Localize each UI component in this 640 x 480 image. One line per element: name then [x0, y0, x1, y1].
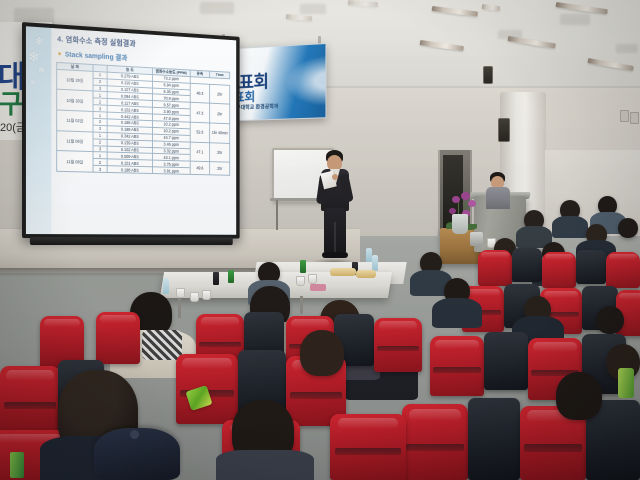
- slide-bullet-marker: [58, 52, 61, 55]
- cell-date: 10월 30일: [57, 90, 93, 112]
- cell-time: 2hr: [210, 142, 230, 162]
- auditorium-seat: [512, 248, 542, 282]
- flower-vase: [452, 214, 468, 234]
- audience-head: [596, 306, 624, 334]
- kettle: [470, 232, 483, 246]
- paper-cup: [202, 290, 211, 300]
- ceiling-light: [432, 6, 478, 17]
- snack-plate: [330, 268, 356, 276]
- screen-bottom-bar: [30, 237, 233, 245]
- auditorium-seat: [330, 414, 406, 480]
- wall-outlet: [630, 112, 639, 124]
- banner-swoosh-decor: [273, 48, 327, 115]
- cell-date: 11월 06일: [57, 131, 93, 153]
- cell-no: 3: [93, 166, 107, 173]
- snowflake-icon: ❄: [30, 78, 36, 86]
- audience-shoulders: [432, 298, 482, 328]
- pink-item: [310, 284, 326, 291]
- presenter-hand: [332, 174, 338, 180]
- slide-data-table: 날 짜 농 도 염화수소농도 (PPM) 유속 Time 10월 29일10.2…: [56, 62, 230, 176]
- cell-vel: 52.6: [190, 122, 210, 142]
- col-header-time: Time: [210, 71, 230, 78]
- beverage-can: [228, 270, 234, 283]
- ceiling-light: [508, 36, 556, 48]
- cell-ppm: 3.91 ppm: [152, 167, 189, 174]
- table-body: 10월 29일10.279 ABS73.2 ppm20.116 ABS6.94 …: [57, 69, 230, 175]
- auditorium-seat: [402, 404, 468, 480]
- podium-person: [484, 172, 512, 206]
- presenter: [312, 150, 358, 262]
- wall-outlet: [620, 110, 629, 122]
- ceiling-light: [348, 0, 378, 7]
- orchid-bloom: [468, 200, 476, 207]
- ceiling-light: [482, 4, 500, 11]
- col-header-velocity: 유속: [190, 70, 210, 78]
- slide-side-decor: ❄ ❄ ❄ ❄: [26, 26, 51, 234]
- ceiling-light: [556, 2, 608, 14]
- auditorium-seat: [430, 336, 484, 396]
- screen-surface: ❄ ❄ ❄ ❄ 4. 염화수소 측정 실험결과 Stack sampling 결…: [26, 26, 236, 235]
- cell-time: 1hr 40min: [210, 123, 230, 143]
- auditorium-seat: [478, 250, 512, 286]
- photo-scene: 대 구 · 20(금) 발표회 표회 대구대학교 환경공학과 ❄ ❄ ❄ ❄ 4…: [0, 0, 640, 480]
- scarf: [142, 330, 182, 360]
- cell-time: 2hr: [210, 103, 230, 123]
- paper-cup: [296, 276, 305, 286]
- audience-head: [300, 330, 344, 376]
- audience-shoulders: [552, 216, 588, 238]
- paper-cup: [308, 274, 317, 284]
- paper-cup: [190, 292, 199, 302]
- wall-speaker: [483, 66, 493, 84]
- podium-person-torso: [486, 187, 510, 209]
- cell-time: 2hr: [210, 162, 230, 175]
- projection-screen: ❄ ❄ ❄ ❄ 4. 염화수소 측정 실험결과 Stack sampling 결…: [22, 22, 240, 239]
- cell-vel: 48.3: [190, 83, 210, 104]
- cell-date: 11월 08일: [57, 151, 93, 172]
- beverage-can: [10, 452, 24, 478]
- audience-shoulders: [216, 450, 314, 480]
- orchid-bloom: [461, 192, 470, 200]
- auditorium-seat: [542, 252, 576, 288]
- slide-title: 4. 염화수소 측정 실험결과: [57, 33, 136, 49]
- snowflake-icon: ❄: [35, 35, 44, 48]
- auditorium-seat: [576, 250, 606, 284]
- orchid-bloom: [452, 196, 460, 203]
- left-banner-char-2: 구: [0, 84, 23, 121]
- cell-vel: 47.3: [190, 103, 210, 123]
- cell-date: 11월 02일: [57, 110, 93, 132]
- slide-bullet-text: Stack sampling 결과: [65, 50, 127, 63]
- audience-head: [556, 372, 602, 420]
- auditorium-seat: [468, 398, 520, 480]
- table-leg: [178, 296, 181, 318]
- beverage-can: [300, 260, 306, 273]
- auditorium-seat: [374, 318, 422, 372]
- ceiling-light: [420, 40, 464, 51]
- table-leg: [300, 296, 303, 314]
- presenter-leg-gap: [334, 222, 336, 254]
- ceiling-light: [286, 14, 312, 21]
- cell-time: 2hr: [210, 84, 230, 104]
- cell-vel: 47.1: [190, 142, 210, 162]
- snowflake-icon: ❄: [38, 65, 45, 76]
- cap-button: [130, 430, 139, 439]
- presentation-slide: ❄ ❄ ❄ ❄ 4. 염화수소 측정 실험결과 Stack sampling 결…: [26, 26, 236, 235]
- whiteboard-leg: [276, 200, 278, 230]
- cell-vel: 49.6: [190, 161, 210, 175]
- beverage-bottle: [618, 368, 634, 398]
- water-bottle: [372, 255, 378, 271]
- auditorium-seat: [606, 252, 640, 288]
- snowflake-icon: ❄: [28, 48, 40, 66]
- auditorium-seat: [0, 366, 60, 436]
- water-bottle: [163, 278, 169, 294]
- paper-cup: [176, 288, 185, 298]
- cell-conc: 0.198 ABS: [107, 166, 152, 174]
- snack-plate: [356, 270, 376, 278]
- auditorium-seat: [484, 332, 528, 390]
- wall-speaker: [498, 118, 510, 142]
- auditorium-seat: [96, 312, 140, 364]
- beverage-can: [213, 272, 219, 285]
- audience-head: [618, 218, 638, 238]
- ceiling-light: [588, 58, 634, 71]
- cell-date: 10월 29일: [57, 69, 93, 91]
